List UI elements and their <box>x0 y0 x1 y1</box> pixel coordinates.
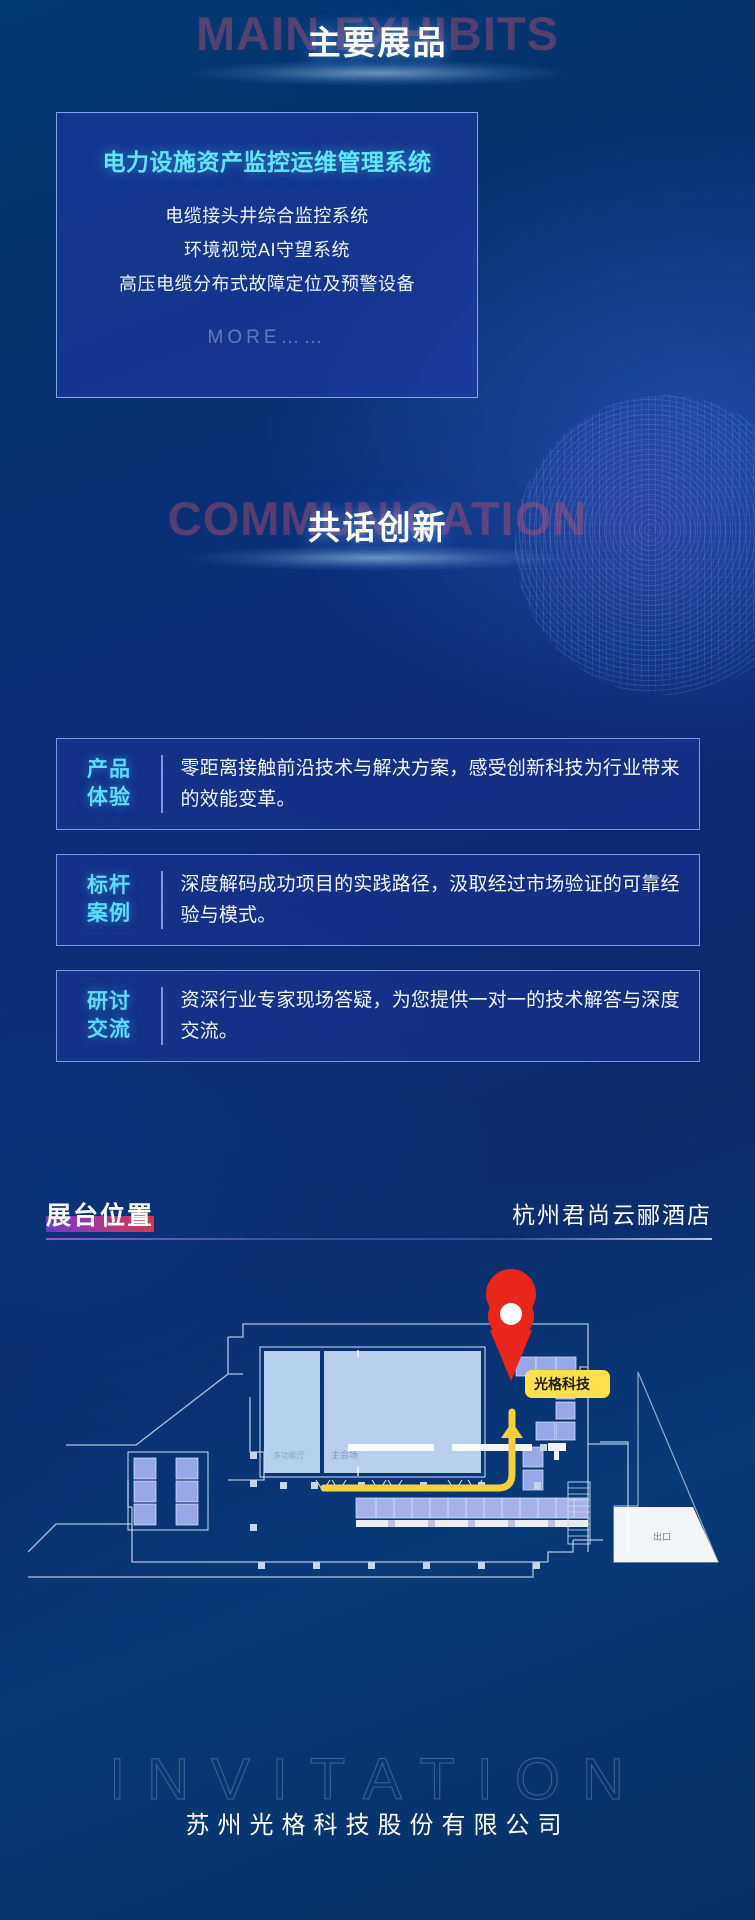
exhibits-card-title: 电力设施资产监控运维管理系统 <box>57 143 477 177</box>
exhibits-item: 高压电缆分布式故障定位及预警设备 <box>57 267 477 301</box>
booth-venue-name: 杭州君尚云郦酒店 <box>512 1196 712 1232</box>
service-block <box>128 1452 208 1530</box>
feature-card[interactable]: 研讨 交流 资深行业专家现场答疑，为您提供一对一的技术解答与深度交流。 <box>56 970 700 1062</box>
exit-label: 出口 <box>653 1531 671 1542</box>
feature-card-tag-line1: 产品 <box>57 756 161 784</box>
feature-card-text: 深度解码成功项目的实践路径，汲取经过市场验证的可靠经验与模式。 <box>163 869 700 931</box>
footer: INVITATION 苏州光格科技股份有限公司 <box>0 1700 755 1920</box>
booth-divider-rule <box>46 1238 712 1240</box>
feature-card-tag-line2: 体验 <box>57 784 161 812</box>
feature-card-text: 资深行业专家现场答疑，为您提供一对一的技术解答与深度交流。 <box>163 985 700 1047</box>
invitation-poster: MAIN EXHIBITS 主要展品 电力设施资产监控运维管理系统 电缆接头井综… <box>0 0 755 1920</box>
hall-left-label: 多功能厅 <box>273 1450 305 1460</box>
communication-heading: COMMUNICATION 共话创新 <box>0 485 755 577</box>
exhibits-item: 电缆接头井综合监控系统 <box>57 199 477 233</box>
feature-card-tag-line1: 研讨 <box>57 988 161 1016</box>
exhibits-more-link[interactable]: MORE…… <box>57 327 477 349</box>
booth-pin-label[interactable]: 光格科技 <box>525 1370 610 1398</box>
feature-card-tag-line1: 标杆 <box>57 872 161 900</box>
communication-card-list: 产品 体验 零距离接触前沿技术与解决方案，感受创新科技为行业带来的效能变革。 标… <box>56 738 700 1086</box>
footer-company-name: 苏州光格科技股份有限公司 <box>0 1805 755 1840</box>
feature-card-tag-line2: 交流 <box>57 1016 161 1044</box>
feature-card-tag: 研讨 交流 <box>57 988 161 1044</box>
main-exhibits-title: 主要展品 <box>0 16 755 64</box>
booth-pin-label-text: 光格科技 <box>533 1376 591 1392</box>
main-exhibits-heading: MAIN EXHIBITS 主要展品 <box>0 0 755 92</box>
feature-card-tag-line2: 案例 <box>57 900 161 928</box>
booth-title: 展台位置 <box>46 1202 154 1230</box>
feature-card-text: 零距离接触前沿技术与解决方案，感受创新科技为行业带来的效能变革。 <box>163 753 700 815</box>
booth-location-section: 展台位置 杭州君尚云郦酒店 <box>46 1196 712 1240</box>
feature-card[interactable]: 标杆 案例 深度解码成功项目的实践路径，汲取经过市场验证的可靠经验与模式。 <box>56 854 700 946</box>
booth-strip <box>356 1498 588 1527</box>
exhibits-card: 电力设施资产监控运维管理系统 电缆接头井综合监控系统 环境视觉AI守望系统 高压… <box>56 112 478 398</box>
feature-card-tag: 标杆 案例 <box>57 872 161 928</box>
booth-title-wrapper: 展台位置 <box>46 1196 154 1232</box>
booth-location-header: 展台位置 杭州君尚云郦酒店 <box>46 1196 712 1238</box>
exhibits-item: 环境视觉AI守望系统 <box>57 233 477 267</box>
hall-blocks: 多功能厅 主会场 <box>260 1347 485 1477</box>
exhibits-item-list: 电缆接头井综合监控系统 环境视觉AI守望系统 高压电缆分布式故障定位及预警设备 <box>57 199 477 301</box>
footer-ghost-text: INVITATION <box>0 1746 755 1813</box>
map-wing: 出口 <box>614 1372 718 1562</box>
feature-card[interactable]: 产品 体验 零距离接触前沿技术与解决方案，感受创新科技为行业带来的效能变革。 <box>56 738 700 830</box>
feature-card-tag: 产品 体验 <box>57 756 161 812</box>
communication-title: 共话创新 <box>0 501 755 549</box>
floor-map[interactable]: 出口 多功能厅 主会场 <box>28 1262 728 1662</box>
